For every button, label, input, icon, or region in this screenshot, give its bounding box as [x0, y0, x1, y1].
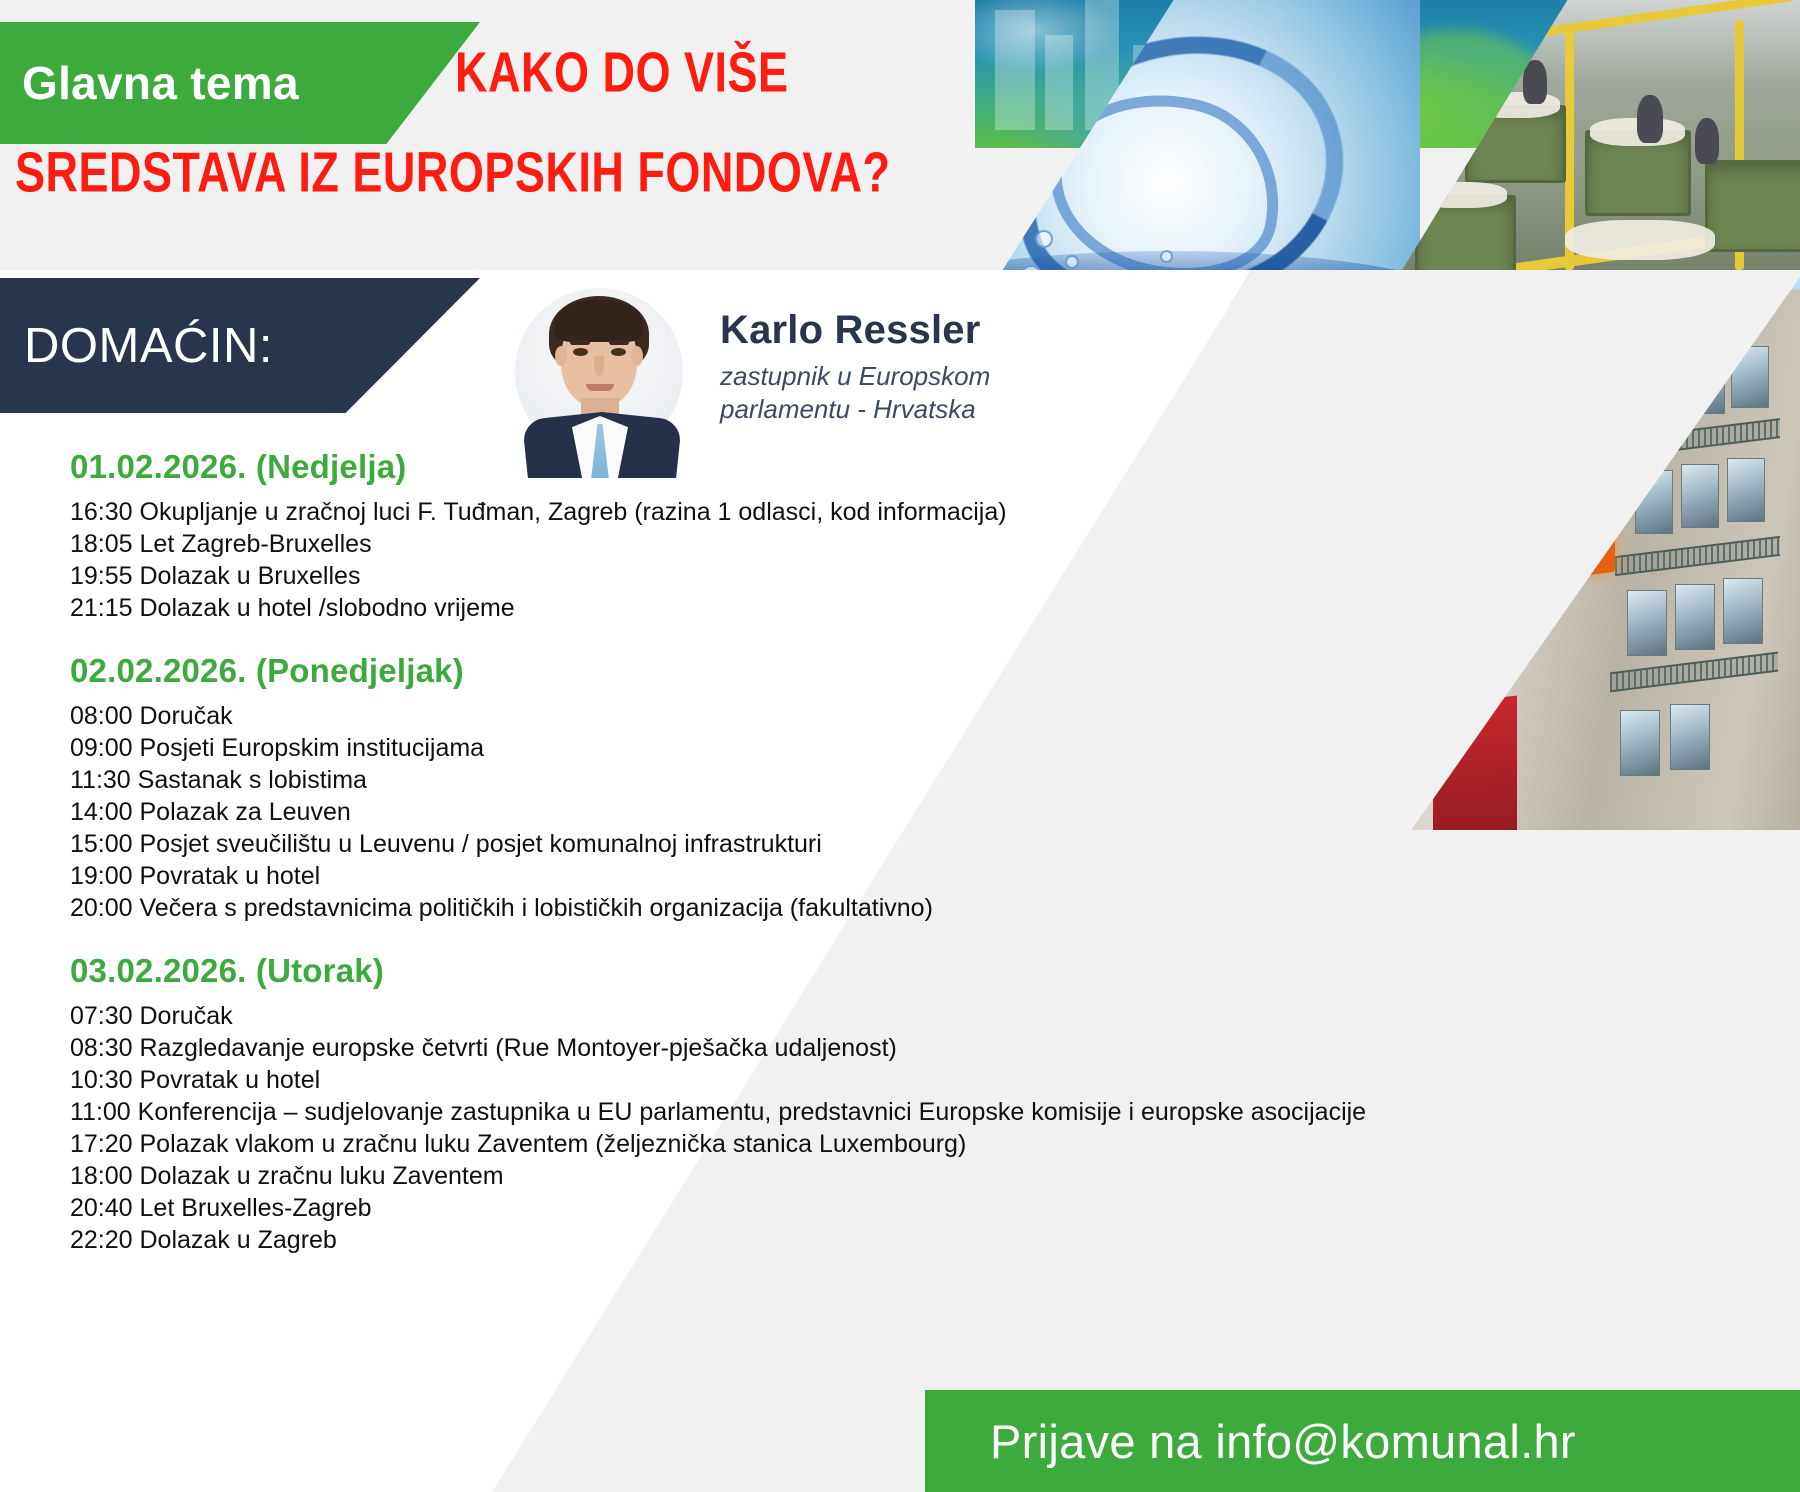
schedule-item: 08:00 Doručak [70, 700, 1530, 732]
schedule-item: 20:00 Večera s predstavnicima političkih… [70, 892, 1530, 924]
schedule-day-title: 01.02.2026. (Nedjelja) [70, 448, 1530, 486]
schedule-item: 18:00 Dolazak u zračnu luku Zaventem [70, 1160, 1530, 1192]
host-role-line-2: parlamentu - Hrvatska [720, 393, 990, 426]
schedule-item: 19:55 Dolazak u Bruxelles [70, 560, 1530, 592]
headline-line-2: SREDSTAVA IZ EUROPSKIH FONDOVA? [15, 144, 891, 200]
registration-footer: Prijave na info@komunal.hr [925, 1390, 1800, 1492]
schedule-item: 07:30 Doručak [70, 1000, 1530, 1032]
schedule-day: 03.02.2026. (Utorak) 07:30 Doručak 08:30… [70, 952, 1530, 1256]
schedule-item: 21:15 Dolazak u hotel /slobodno vrijeme [70, 592, 1530, 624]
headline: KAKO DO VIŠE SREDSTAVA IZ EUROPSKIH FOND… [455, 44, 1215, 89]
schedule-day-title: 03.02.2026. (Utorak) [70, 952, 1530, 990]
schedule-day-items: 08:00 Doručak 09:00 Posjeti Europskim in… [70, 700, 1530, 924]
schedule-item: 11:30 Sastanak s lobistima [70, 764, 1530, 796]
schedule-item: 22:20 Dolazak u Zagreb [70, 1224, 1530, 1256]
schedule-item: 17:20 Polazak vlakom u zračnu luku Zaven… [70, 1128, 1530, 1160]
schedule-day-items: 16:30 Okupljanje u zračnoj luci F. Tuđma… [70, 496, 1530, 624]
registration-footer-text: Prijave na info@komunal.hr [990, 1414, 1576, 1469]
headline-line-1: KAKO DO VIŠE [455, 44, 1215, 100]
schedule-item: 08:30 Razgledavanje europske četvrti (Ru… [70, 1032, 1530, 1064]
host-role-line-1: zastupnik u Europskom [720, 360, 990, 393]
schedule-item: 10:30 Povratak u hotel [70, 1064, 1530, 1096]
schedule-item: 09:00 Posjeti Europskim institucijama [70, 732, 1530, 764]
host-section-label: DOMAĆIN: [24, 318, 273, 374]
schedule-item: 18:05 Let Zagreb-Bruxelles [70, 528, 1530, 560]
host-role: zastupnik u Europskom parlamentu - Hrvat… [720, 360, 990, 425]
schedule-day-title: 02.02.2026. (Ponedjeljak) [70, 652, 1530, 690]
schedule-day: 01.02.2026. (Nedjelja) 16:30 Okupljanje … [70, 448, 1530, 624]
schedule-item: 20:40 Let Bruxelles-Zagreb [70, 1192, 1530, 1224]
schedule-item: 11:00 Konferencija – sudjelovanje zastup… [70, 1096, 1530, 1128]
main-topic-tag: Glavna tema [0, 22, 480, 144]
schedule-item: 14:00 Polazak za Leuven [70, 796, 1530, 828]
schedule-item: 16:30 Okupljanje u zračnoj luci F. Tuđma… [70, 496, 1530, 528]
poster-canvas: Radisson OUIBAR Glavna tema KAKO DO VIŠE… [0, 0, 1800, 1492]
schedule-item: 15:00 Posjet sveučilištu u Leuvenu / pos… [70, 828, 1530, 860]
schedule-day: 02.02.2026. (Ponedjeljak) 08:00 Doručak … [70, 652, 1530, 924]
schedule-day-items: 07:30 Doručak 08:30 Razgledavanje europs… [70, 1000, 1530, 1256]
host-name: Karlo Ressler [720, 308, 981, 353]
schedule: 01.02.2026. (Nedjelja) 16:30 Okupljanje … [70, 448, 1530, 1262]
schedule-item: 19:00 Povratak u hotel [70, 860, 1530, 892]
main-topic-tag-label: Glavna tema [22, 56, 299, 110]
